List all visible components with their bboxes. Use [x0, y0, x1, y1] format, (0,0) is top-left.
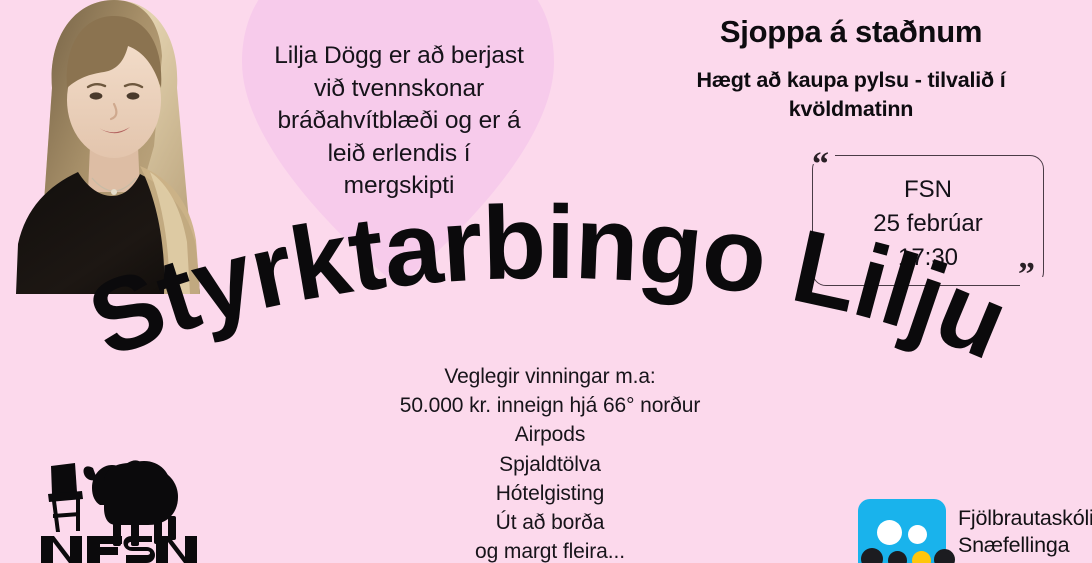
poster-canvas: Lilja Dögg er að berjast við tvennskonar…: [0, 0, 1092, 563]
prize-item-6: og margt fleira...: [340, 537, 760, 563]
prize-item-4: Hótelgisting: [340, 479, 760, 508]
shop-subtitle-line-1: Hægt að kaupa pylsu - tilvalið í: [620, 66, 1082, 95]
fsn-name-line-2: Snæfellinga: [958, 532, 1092, 559]
sheep-icon: [83, 460, 178, 546]
logo-dot-white-small: [908, 525, 927, 544]
shop-subtitle-line-2: kvöldmatinn: [620, 95, 1082, 124]
quote-open-icon: “: [812, 148, 829, 182]
logo-dot-black-1: [861, 548, 883, 563]
portrait-photo: [4, 0, 224, 298]
heart-line-5: mergskipti: [252, 170, 546, 203]
prize-item-1: 50.000 kr. inneign hjá 66° norður: [340, 391, 760, 420]
event-time: 17:30: [812, 241, 1044, 275]
chair-icon: [48, 463, 83, 532]
fsn-school-name: Fjölbrautaskóli Snæfellinga: [958, 499, 1092, 558]
logo-dot-white-large: [877, 520, 902, 545]
prize-heading: Veglegir vinningar m.a:: [340, 362, 760, 391]
event-details: FSN 25 febrúar 17:30: [812, 173, 1044, 275]
logo-dot-black-3: [934, 549, 955, 563]
prize-item-5: Út að borða: [340, 508, 760, 537]
fsn-name-line-1: Fjölbrautaskóli: [958, 505, 1092, 532]
logo-dot-black-2: [888, 551, 907, 563]
event-date: 25 febrúar: [812, 207, 1044, 241]
prize-item-2: Airpods: [340, 420, 760, 449]
heart-line-3: bráðahvítblæði og er á: [252, 105, 546, 138]
logo-dot-yellow: [912, 551, 931, 563]
heart-line-1: Lilja Dögg er að berjast: [252, 40, 546, 73]
shop-title: Sjoppa á staðnum: [636, 14, 1066, 50]
quote-close-icon: ”: [1018, 258, 1035, 292]
nfsn-logo: [30, 452, 198, 563]
nfsn-wordmark: [41, 536, 197, 563]
prize-item-3: Spjaldtölva: [340, 450, 760, 479]
heart-message: Lilja Dögg er að berjast við tvennskonar…: [252, 40, 546, 203]
fsn-school-logo: Fjölbrautaskóli Snæfellinga: [858, 499, 1084, 563]
heart-line-4: leið erlendis í: [252, 138, 546, 171]
shop-subtitle: Hægt að kaupa pylsu - tilvalið í kvöldma…: [620, 66, 1082, 124]
heart-line-2: við tvennskonar: [252, 73, 546, 106]
event-venue: FSN: [812, 173, 1044, 207]
fsn-logo-mark: [858, 499, 946, 563]
prize-list: Veglegir vinningar m.a: 50.000 kr. innei…: [340, 362, 760, 563]
event-info-box: FSN 25 febrúar 17:30: [812, 155, 1044, 286]
